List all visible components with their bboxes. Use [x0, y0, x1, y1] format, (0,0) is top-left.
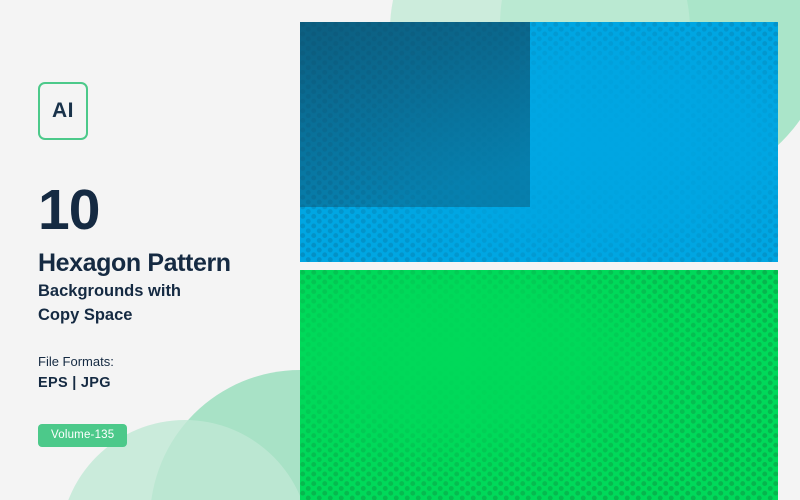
adobe-illustrator-badge: AI: [38, 82, 88, 140]
tile-separator: [300, 262, 778, 270]
page-subtitle-line-2: Copy Space: [38, 305, 288, 326]
page-title: Hexagon Pattern: [38, 249, 288, 278]
item-count: 10: [38, 182, 288, 239]
blue-hexagon-preview: [300, 22, 778, 262]
green-hexagon-preview: [300, 270, 778, 500]
poster-canvas: AI 10 Hexagon Pattern Backgrounds with C…: [0, 0, 800, 500]
green-hexagon-pattern-art: [300, 270, 778, 500]
preview-tiles: [300, 22, 778, 500]
volume-badge: Volume-135: [38, 424, 127, 447]
page-subtitle-line-1: Backgrounds with: [38, 281, 288, 302]
file-formats-label: File Formats:: [38, 354, 288, 369]
file-formats-value: EPS | JPG: [38, 375, 288, 391]
info-panel: AI 10 Hexagon Pattern Backgrounds with C…: [38, 82, 288, 447]
blue-hexagon-pattern-art: [300, 22, 778, 262]
